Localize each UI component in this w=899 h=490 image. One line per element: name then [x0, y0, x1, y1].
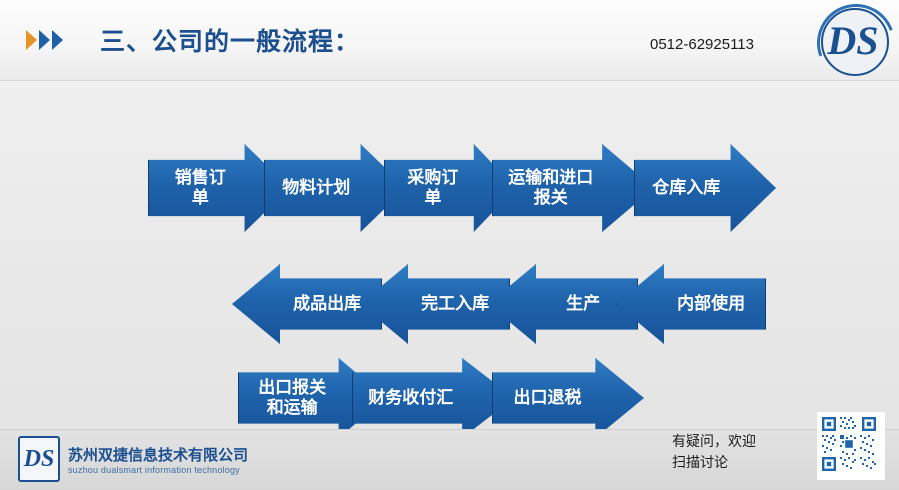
company-logo-header: DS: [815, 4, 891, 76]
company-name-cn: 苏州双捷信息技术有限公司: [68, 444, 248, 465]
company-logo-footer: DS 苏州双捷信息技术有限公司 suzhou dualsmart informa…: [18, 436, 248, 482]
flow-step-label: 运输和进口 报关: [493, 168, 653, 207]
chevron-right-icon: [26, 26, 82, 54]
company-name-en: suzhou dualsmart information technology: [68, 465, 248, 475]
flow-step-label: 完工入库: [361, 294, 509, 314]
slide-header: 三、公司的一般流程： 0512-62925113 DS: [0, 0, 899, 81]
flow-step-transport-import-declaration: 运输和进口 报关: [492, 144, 654, 232]
flow-step-production: 生产: [488, 264, 638, 344]
footer-note: 有疑问，欢迎 扫描讨论: [672, 431, 756, 472]
flow-step-label: 生产: [489, 294, 637, 314]
logo-monogram: DS: [815, 4, 891, 76]
flow-step-label: 仓库入库: [635, 178, 775, 198]
flow-step-export-tax-refund: 出口退税: [492, 358, 644, 438]
flow-step-internal-use: 内部使用: [616, 264, 766, 344]
flow-step-completion-in: 完工入库: [360, 264, 510, 344]
qr-code-image: [820, 415, 878, 473]
flow-step-label: 成品出库: [233, 294, 381, 314]
flow-step-label: 出口退税: [493, 388, 643, 408]
contact-phone: 0512-62925113: [650, 36, 754, 53]
slide-canvas: 三、公司的一般流程： 0512-62925113 DS 销售订 单 物料计划 采…: [0, 0, 899, 490]
flow-step-warehouse-in: 仓库入库: [634, 144, 776, 232]
logo-monogram-footer: DS: [18, 436, 60, 482]
flow-step-finished-goods-out: 成品出库: [232, 264, 382, 344]
page-title: 三、公司的一般流程：: [100, 22, 360, 58]
flow-step-finance-settlement: 财务收付汇: [352, 358, 514, 438]
qr-code: [817, 412, 885, 480]
flow-step-label: 财务收付汇: [353, 388, 513, 408]
flow-step-label: 内部使用: [617, 294, 765, 314]
